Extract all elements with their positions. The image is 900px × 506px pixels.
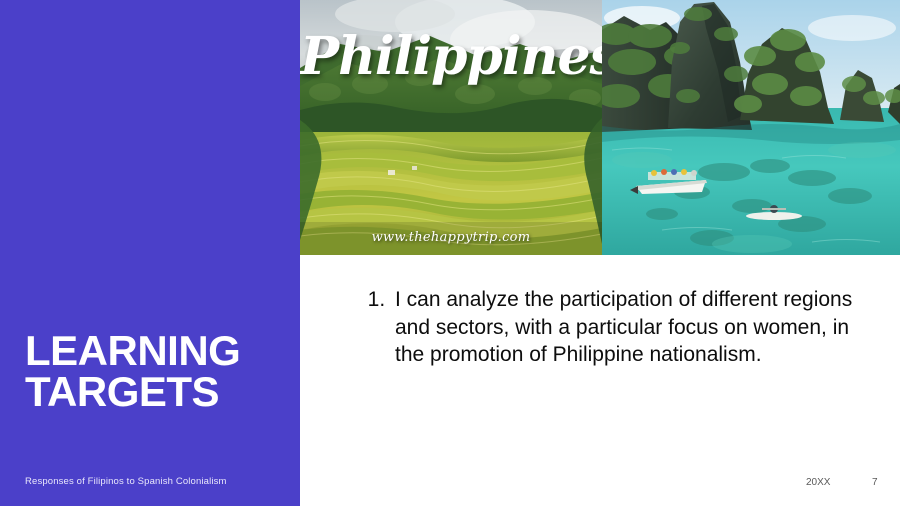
- slide-date-label: 20XX: [806, 477, 830, 488]
- lagoon-illustration: [602, 0, 900, 255]
- slide-footer-note: Responses of Filipinos to Spanish Coloni…: [25, 476, 227, 487]
- image-band: Philippines www.thehappytrip.com: [300, 0, 900, 255]
- rice-terraces-illustration: [300, 0, 602, 255]
- objectives-list: I can analyze the participation of diffe…: [360, 286, 860, 369]
- philippines-lagoon-photo: [602, 0, 900, 255]
- presentation-slide: LEARNING TARGETS Responses of Filipinos …: [0, 0, 900, 506]
- slide-sidebar-panel: [0, 0, 300, 506]
- slide-page-number: 7: [872, 477, 878, 488]
- page-title: LEARNING TARGETS: [25, 330, 285, 412]
- philippines-rice-terraces-photo: Philippines www.thehappytrip.com: [300, 0, 602, 255]
- objectives-section: I can analyze the participation of diffe…: [360, 286, 860, 369]
- list-item: I can analyze the participation of diffe…: [391, 286, 860, 369]
